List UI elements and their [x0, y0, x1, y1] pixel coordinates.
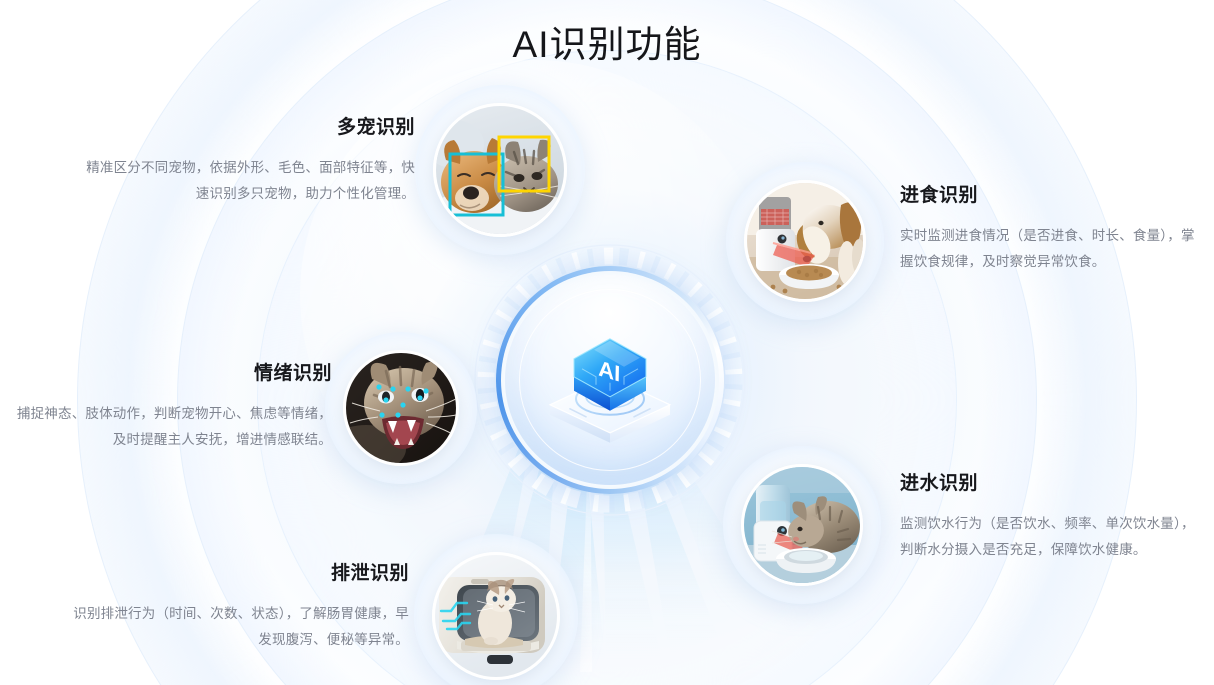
- feature-drinking: 进水识别 监测饮水行为（是否饮水、频率、单次饮水量），判断水分摄入是否充足，保障…: [900, 468, 1200, 563]
- page-title: AI识别功能: [0, 14, 1214, 68]
- ai-chip-icon: AI: [544, 325, 676, 445]
- ai-core-emblem: AI: [472, 242, 748, 518]
- excretion-photo-bubble[interactable]: [432, 552, 560, 680]
- dog-eating-from-feeder-photo: [744, 180, 866, 302]
- cat-face-landmarks-photo: [343, 350, 459, 466]
- emotion-photo-bubble[interactable]: [343, 350, 459, 466]
- feature-title-multipet: 多宠识别: [75, 112, 415, 139]
- feature-multipet: 多宠识别 精准区分不同宠物，依据外形、毛色、面部特征等，快速识别多只宠物，助力个…: [75, 112, 415, 207]
- feature-feeding: 进食识别 实时监测进食情况（是否进食、时长、食量），掌握饮食规律，及时察觉异常饮…: [900, 180, 1200, 275]
- core-inner-disc: AI: [505, 275, 715, 485]
- feature-emotion: 情绪识别 捕捉神态、肢体动作，判断宠物开心、焦虑等情绪，及时提醒主人安抚，增进情…: [10, 358, 332, 453]
- feature-title-feeding: 进食识别: [900, 180, 1200, 207]
- feature-description-drinking: 监测饮水行为（是否饮水、频率、单次饮水量），判断水分摄入是否充足，保障饮水健康。: [900, 511, 1200, 563]
- feature-description-feeding: 实时监测进食情况（是否进食、时长、食量），掌握饮食规律，及时察觉异常饮食。: [900, 223, 1200, 275]
- feature-title-emotion: 情绪识别: [10, 358, 332, 385]
- feature-title-drinking: 进水识别: [900, 468, 1200, 495]
- multipet-photo-bubble[interactable]: [433, 103, 567, 237]
- feature-description-excretion: 识别排泄行为（时间、次数、状态），了解肠胃健康，早发现腹泻、便秘等异常。: [72, 601, 409, 653]
- cat-in-litter-box-photo: [432, 552, 560, 680]
- feature-description-multipet: 精准区分不同宠物，依据外形、毛色、面部特征等，快速识别多只宠物，助力个性化管理。: [75, 155, 415, 207]
- feature-title-excretion: 排泄识别: [72, 558, 409, 585]
- feeding-photo-bubble[interactable]: [744, 180, 866, 302]
- ai-recognition-infographic: AI识别功能: [0, 0, 1214, 685]
- cat-drinking-fountain-photo: [741, 464, 863, 586]
- feature-excretion: 排泄识别 识别排泄行为（时间、次数、状态），了解肠胃健康，早发现腹泻、便秘等异常…: [72, 558, 409, 653]
- dog-and-cat-detection-photo: [433, 103, 567, 237]
- feature-description-emotion: 捕捉神态、肢体动作，判断宠物开心、焦虑等情绪，及时提醒主人安抚，增进情感联结。: [10, 401, 332, 453]
- drinking-photo-bubble[interactable]: [741, 464, 863, 586]
